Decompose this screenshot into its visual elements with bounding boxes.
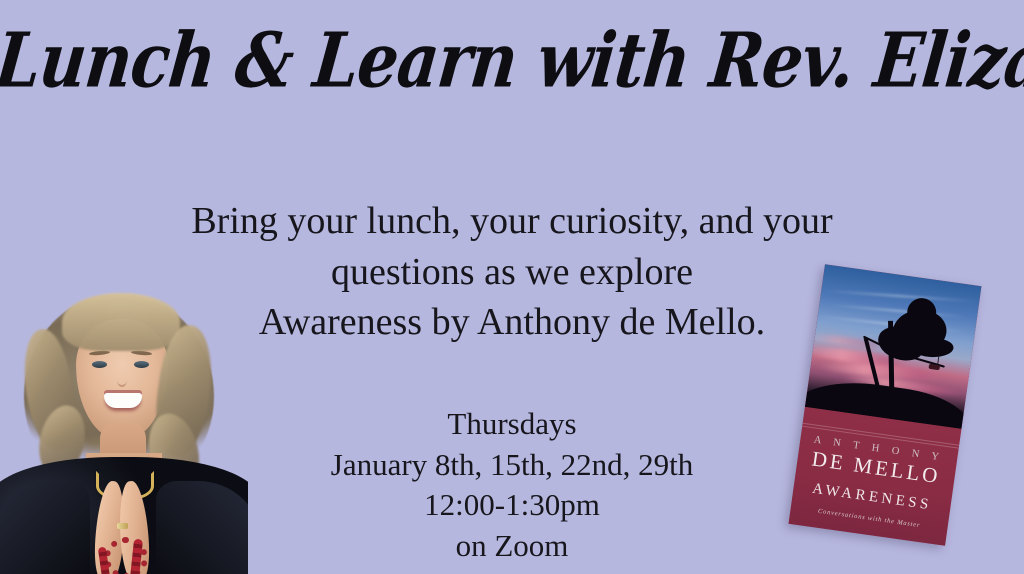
eye-right [134,361,149,368]
smile-shape [104,393,142,408]
hair-curl-top [62,293,180,351]
book-cover-text-panel: A N T H O N Y DE MELLO AWARENESS Convers… [789,407,962,546]
schedule-platform: on Zoom [200,526,824,567]
shoulder-right [156,481,248,574]
sky-streak [825,290,976,303]
schedule-time: 12:00-1:30pm [200,485,824,526]
speaker-portrait [0,285,248,574]
tree-swing [928,363,940,369]
sky-streak [829,303,968,317]
tree-canopy [912,338,953,357]
schedule-dates: January 8th, 15th, 22nd, 29th [200,445,824,486]
book-cover-photo [805,264,982,429]
page-title: Lunch & Learn with Rev. Elizabeth [0,24,1024,100]
finger-ring [117,523,128,529]
schedule-day: Thursdays [200,404,824,445]
flyer-canvas: Lunch & Learn with Rev. Elizabeth Bring … [0,0,1024,574]
schedule-block: Thursdays January 8th, 15th, 22nd, 29th … [200,404,824,566]
shoulder-left [0,481,90,574]
body-line-1: Bring your lunch, your curiosity, and yo… [120,196,904,247]
eye-left [92,361,107,368]
nose-shape [117,373,127,387]
